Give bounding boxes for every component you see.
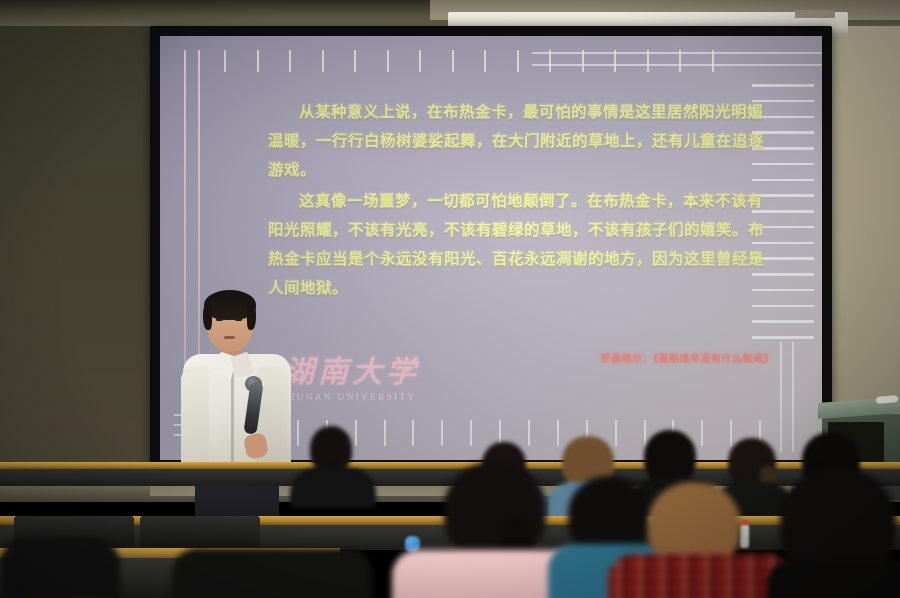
- list-item: [772, 468, 900, 598]
- presenter-right-eye: [235, 318, 242, 321]
- slide-paragraph-1: 从某种意义上说，在布热金卡，最可怕的事情是这里居然阳光明媚温暖，一行行白杨树婆娑…: [268, 98, 778, 185]
- presenter-hair-right-side: [247, 304, 256, 330]
- list-item: [296, 426, 368, 492]
- audience-area: [0, 420, 900, 598]
- list-item: [0, 538, 120, 598]
- audience-torso: [172, 548, 372, 598]
- lecture-hall-photo: 从某种意义上说，在布热金卡，最可怕的事情是这里居然阳光明媚温暖，一行行白杨树婆娑…: [0, 0, 900, 598]
- audience-torso: [290, 468, 376, 508]
- slide-top-right-horizontal-lines: [532, 52, 822, 78]
- seat-back: [140, 516, 260, 550]
- logo-english-name: HUNAN UNIVERSITY: [272, 393, 432, 403]
- slide-body-text: 从某种意义上说，在布热金卡，最可怕的事情是这里居然阳光明媚温暖，一行行白杨树婆娑…: [268, 98, 778, 303]
- presenter-hair-left-side: [203, 304, 212, 330]
- presenter-left-eye: [216, 318, 223, 321]
- audience-torso: [0, 538, 120, 598]
- logo-chinese-name: 湖南大学: [272, 358, 432, 388]
- presenter-mouth: [224, 336, 235, 339]
- left-wall: [0, 0, 158, 470]
- slide-attribution: 罗森塔尔：《奥斯维辛没有什么新闻》: [524, 350, 774, 365]
- audience-torso: [766, 560, 900, 598]
- roller-mount-bracket: [795, 10, 835, 18]
- hunan-university-logo: 湖南大学 HUNAN UNIVERSITY: [272, 358, 432, 403]
- list-item: [172, 548, 372, 598]
- slide-paragraph-2: 这真像一场噩梦，一切都可怕地颠倒了。在布热金卡，本来不该有阳光照耀，不该有光亮，…: [268, 187, 778, 303]
- list-item: [614, 482, 784, 598]
